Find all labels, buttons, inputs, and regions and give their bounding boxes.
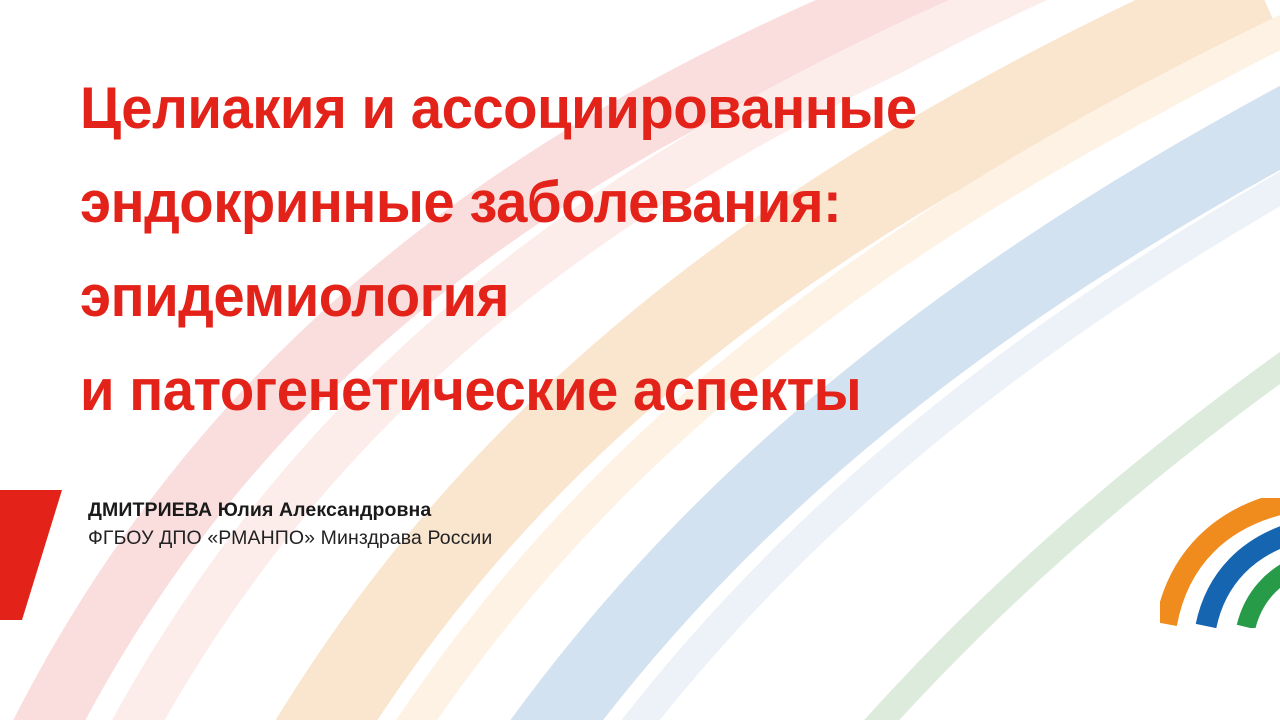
slide-title: Целиакия и ассоциированные эндокринные з… (80, 62, 1220, 438)
rainbow-arc-logo (1160, 498, 1280, 628)
author-name: ДМИТРИЕВА Юлия Александровна (88, 497, 492, 524)
presentation-slide: Целиакия и ассоциированные эндокринные з… (0, 0, 1280, 720)
author-affiliation: ФГБОУ ДПО «РМАНПО» Минздрава России (88, 524, 492, 552)
title-line-3: эпидемиология (80, 250, 1186, 344)
red-angled-accent (0, 490, 70, 620)
title-line-1: Целиакия и ассоциированные (80, 62, 1186, 156)
title-line-4: и патогенетические аспекты (80, 344, 1186, 438)
author-block: ДМИТРИЕВА Юлия Александровна ФГБОУ ДПО «… (88, 497, 492, 552)
title-line-2: эндокринные заболевания: (80, 156, 1186, 250)
logo-arc-green (1246, 564, 1280, 627)
